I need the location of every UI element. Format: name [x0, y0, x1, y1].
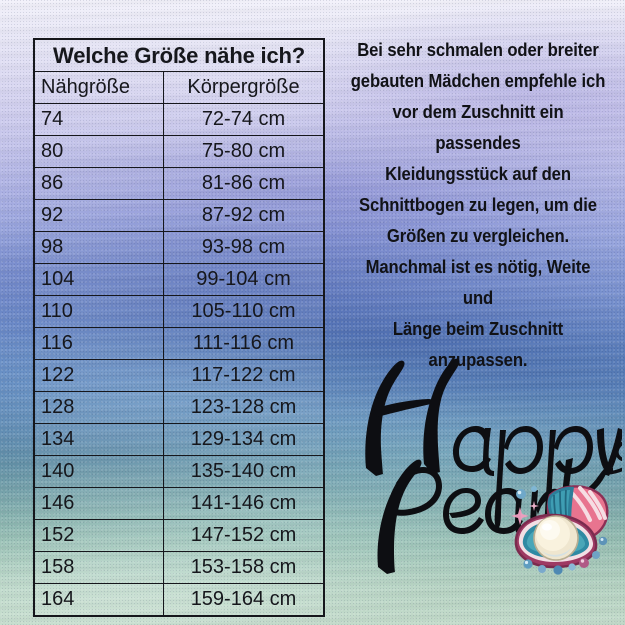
size-chart-image: Welche Größe nähe ich? Nähgröße Körpergr…	[0, 0, 625, 625]
table-row: 80 75-80 cm	[34, 136, 324, 168]
table-row: 98 93-98 cm	[34, 232, 324, 264]
advice-note: Bei sehr schmalen oder breiter gebauten …	[348, 34, 607, 375]
note-line: Bei sehr schmalen oder breiter	[348, 34, 607, 65]
cell-size: 110	[34, 296, 164, 328]
cell-size: 86	[34, 168, 164, 200]
cell-height: 123-128 cm	[164, 392, 325, 424]
note-line: vor dem Zuschnitt ein passendes	[348, 96, 607, 158]
cell-size: 152	[34, 520, 164, 552]
table-row: 146 141-146 cm	[34, 488, 324, 520]
table-row: 140 135-140 cm	[34, 456, 324, 488]
table-header-row: Nähgröße Körpergröße	[34, 72, 324, 104]
cell-height: 87-92 cm	[164, 200, 325, 232]
cell-height: 75-80 cm	[164, 136, 325, 168]
table-row: 92 87-92 cm	[34, 200, 324, 232]
cell-size: 140	[34, 456, 164, 488]
table-row: 128 123-128 cm	[34, 392, 324, 424]
cell-height: 72-74 cm	[164, 104, 325, 136]
cell-height: 153-158 cm	[164, 552, 325, 584]
seashell-pearl-icon	[506, 481, 615, 575]
cell-size: 134	[34, 424, 164, 456]
column-header-naehgroesse: Nähgröße	[34, 72, 164, 104]
cell-height: 129-134 cm	[164, 424, 325, 456]
cell-size: 158	[34, 552, 164, 584]
cell-size: 74	[34, 104, 164, 136]
cell-size: 122	[34, 360, 164, 392]
cell-size: 164	[34, 584, 164, 617]
table-title: Welche Größe nähe ich?	[34, 39, 324, 72]
cell-size: 146	[34, 488, 164, 520]
note-line: Schnittbogen zu legen, um die	[348, 189, 607, 220]
cell-size: 92	[34, 200, 164, 232]
cell-height: 111-116 cm	[164, 328, 325, 360]
cell-size: 116	[34, 328, 164, 360]
table-row: 116 111-116 cm	[34, 328, 324, 360]
column-header-koerpergroesse: Körpergröße	[164, 72, 325, 104]
table-row: 86 81-86 cm	[34, 168, 324, 200]
cell-height: 81-86 cm	[164, 168, 325, 200]
cell-size: 80	[34, 136, 164, 168]
note-line: Kleidungsstück auf den	[348, 158, 607, 189]
cell-height: 147-152 cm	[164, 520, 325, 552]
table-row: 158 153-158 cm	[34, 552, 324, 584]
table-title-row: Welche Größe nähe ich?	[34, 39, 324, 72]
cell-height: 93-98 cm	[164, 232, 325, 264]
cell-height: 99-104 cm	[164, 264, 325, 296]
cell-height: 105-110 cm	[164, 296, 325, 328]
table-row: 110 105-110 cm	[34, 296, 324, 328]
note-line: Größen zu vergleichen.	[348, 220, 607, 251]
cell-size: 128	[34, 392, 164, 424]
size-table: Welche Größe nähe ich? Nähgröße Körpergr…	[33, 38, 325, 617]
cell-height: 117-122 cm	[164, 360, 325, 392]
cell-height: 135-140 cm	[164, 456, 325, 488]
table-row: 152 147-152 cm	[34, 520, 324, 552]
pearl	[534, 516, 578, 560]
note-line: Manchmal ist es nötig, Weite und	[348, 251, 607, 313]
table-row: 134 129-134 cm	[34, 424, 324, 456]
cell-size: 104	[34, 264, 164, 296]
note-line: gebauten Mädchen empfehle ich	[348, 65, 607, 96]
cell-height: 141-146 cm	[164, 488, 325, 520]
size-table-body: Welche Größe nähe ich? Nähgröße Körpergr…	[34, 39, 324, 616]
table-row: 164 159-164 cm	[34, 584, 324, 617]
table-row: 104 99-104 cm	[34, 264, 324, 296]
table-row: 122 117-122 cm	[34, 360, 324, 392]
cell-height: 159-164 cm	[164, 584, 325, 617]
table-row: 74 72-74 cm	[34, 104, 324, 136]
cell-size: 98	[34, 232, 164, 264]
